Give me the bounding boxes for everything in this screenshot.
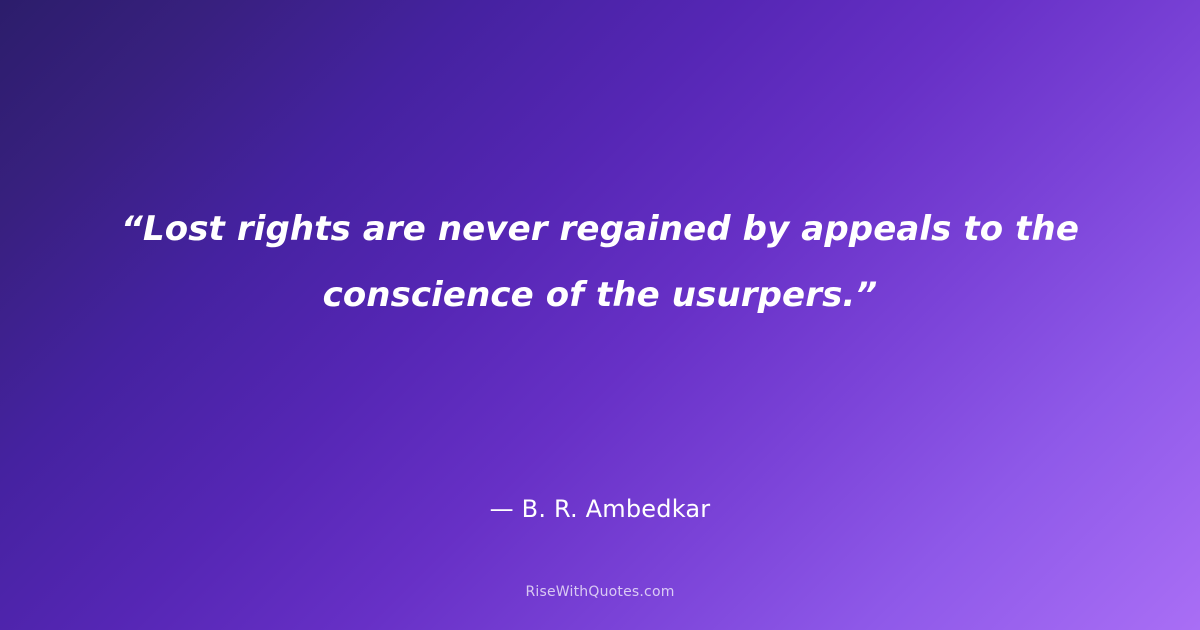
quote-card: “Lost rights are never regained by appea… — [0, 0, 1200, 630]
quote-attribution: — B. R. Ambedkar — [0, 494, 1200, 524]
quote-block: “Lost rights are never regained by appea… — [0, 196, 1200, 328]
quote-text: “Lost rights are never regained by appea… — [110, 196, 1090, 328]
footer-watermark: RiseWithQuotes.com — [0, 583, 1200, 602]
